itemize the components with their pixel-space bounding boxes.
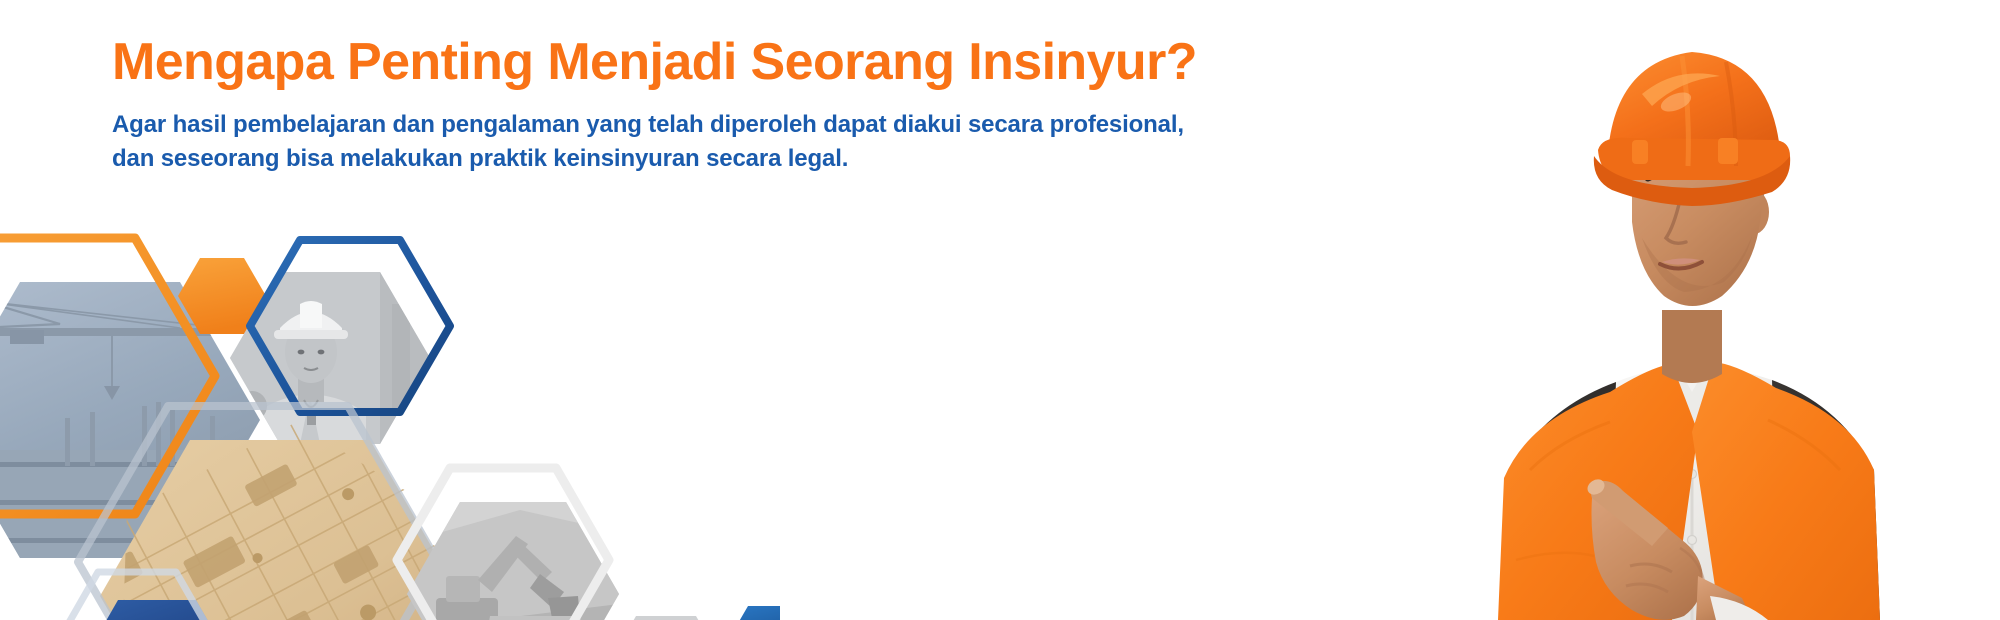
neck (1662, 310, 1722, 383)
small-blue-hexagon (730, 606, 780, 620)
solid-grey-hexagon (606, 616, 726, 620)
subcopy-line-2: dan seseorang bisa melakukan praktik kei… (112, 142, 1512, 176)
hexagon-photo-collage (0, 200, 780, 620)
banner-subcopy: Agar hasil pembelajaran dan pengalaman y… (112, 108, 1512, 176)
hero-banner: Mengapa Penting Menjadi Seorang Insinyur… (0, 0, 2000, 620)
subcopy-line-1: Agar hasil pembelajaran dan pengalaman y… (112, 108, 1512, 142)
banner-text-block: Mengapa Penting Menjadi Seorang Insinyur… (112, 30, 1532, 176)
page-title: Mengapa Penting Menjadi Seorang Insinyur… (112, 30, 1532, 94)
